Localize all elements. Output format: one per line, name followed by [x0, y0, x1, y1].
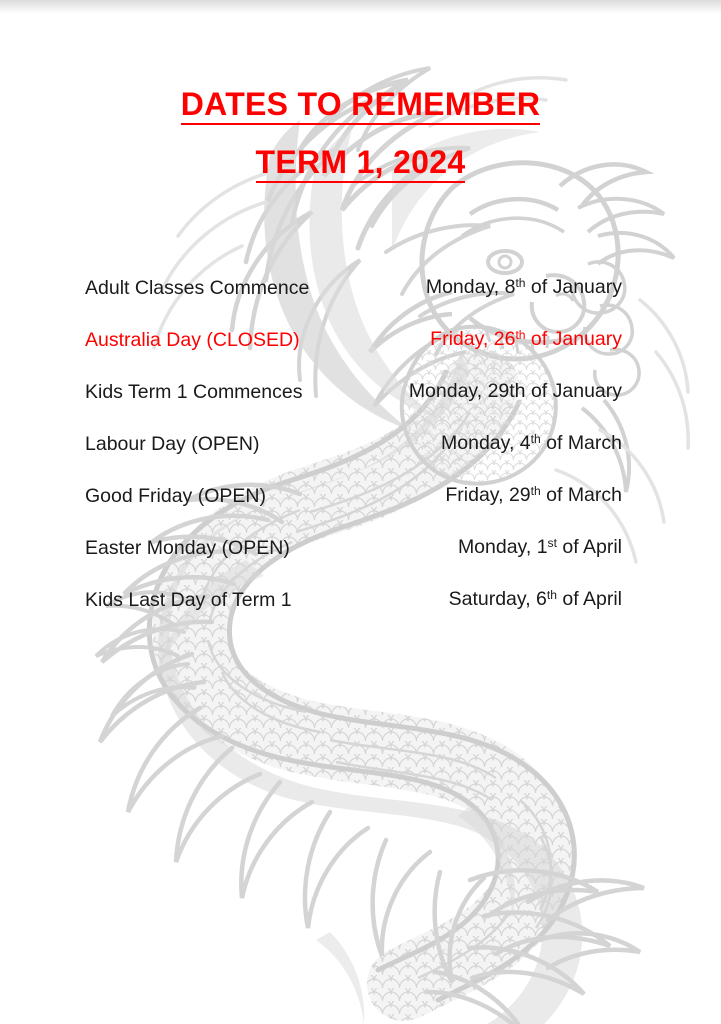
table-row: Good Friday (OPEN) Friday, 29th of March	[85, 470, 622, 522]
date-rest: of April	[557, 536, 622, 558]
event-label: Easter Monday (OPEN)	[85, 522, 385, 574]
date-ordinal: th	[515, 328, 525, 342]
date-day: Monday, 1	[458, 536, 548, 558]
date-ordinal: th	[531, 432, 541, 446]
table-row: Australia Day (CLOSED) Friday, 26th of J…	[85, 314, 622, 366]
event-label: Kids Term 1 Commences	[85, 366, 385, 418]
document-content: DATES TO REMEMBER TERM 1, 2024 Adult Cla…	[0, 0, 721, 1024]
date-rest: of April	[557, 588, 622, 610]
date-value: Monday, 29th of January	[385, 366, 622, 418]
table-row: Labour Day (OPEN) Monday, 4th of March	[85, 418, 622, 470]
date-ordinal: th	[515, 276, 525, 290]
table-row: Kids Term 1 Commences Monday, 29th of Ja…	[85, 366, 622, 418]
date-ordinal: th	[531, 484, 541, 498]
date-rest: of January	[526, 276, 622, 298]
date-ordinal: st	[548, 536, 557, 550]
date-value: Monday, 4th of March	[385, 418, 622, 470]
title-line-1: DATES TO REMEMBER	[0, 88, 721, 125]
dates-table-body: Adult Classes Commence Monday, 8th of Ja…	[85, 262, 622, 626]
dates-table: Adult Classes Commence Monday, 8th of Ja…	[85, 262, 622, 626]
event-label: Australia Day (CLOSED)	[85, 314, 385, 366]
date-ordinal: th	[547, 588, 557, 602]
date-day: Friday, 26	[430, 328, 515, 350]
date-day: Monday, 4	[441, 432, 531, 454]
date-day: Saturday, 6	[449, 588, 547, 610]
date-value: Monday, 1st of April	[385, 522, 622, 574]
event-label: Good Friday (OPEN)	[85, 470, 385, 522]
date-day: Monday, 8	[426, 276, 516, 298]
title-line-1-text: DATES TO REMEMBER	[181, 88, 541, 125]
date-value: Monday, 8th of January	[385, 262, 622, 314]
date-value: Friday, 26th of January	[385, 314, 622, 366]
event-label: Kids Last Day of Term 1	[85, 574, 385, 626]
date-rest: of January	[526, 328, 622, 350]
document-page: DATES TO REMEMBER TERM 1, 2024 Adult Cla…	[0, 0, 721, 1024]
table-row: Adult Classes Commence Monday, 8th of Ja…	[85, 262, 622, 314]
event-label: Adult Classes Commence	[85, 262, 385, 314]
page-title: DATES TO REMEMBER TERM 1, 2024	[0, 88, 721, 183]
date-day: Monday, 29th of January	[409, 380, 622, 402]
table-row: Easter Monday (OPEN) Monday, 1st of Apri…	[85, 522, 622, 574]
date-value: Friday, 29th of March	[385, 470, 622, 522]
title-line-2: TERM 1, 2024	[0, 146, 721, 183]
event-label: Labour Day (OPEN)	[85, 418, 385, 470]
date-rest: of March	[541, 432, 622, 454]
table-row: Kids Last Day of Term 1 Saturday, 6th of…	[85, 574, 622, 626]
title-line-2-text: TERM 1, 2024	[256, 146, 466, 183]
date-value: Saturday, 6th of April	[385, 574, 622, 626]
date-day: Friday, 29	[445, 484, 530, 506]
date-rest: of March	[541, 484, 622, 506]
